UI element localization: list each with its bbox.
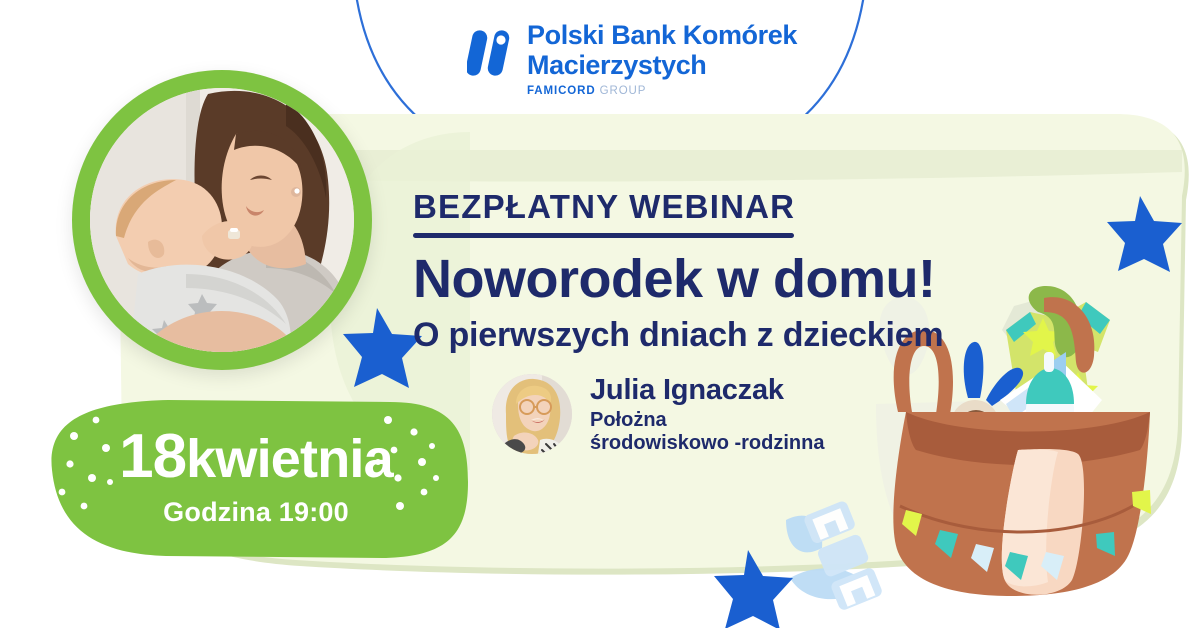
pbkm-quote-mark-icon — [467, 26, 515, 78]
logo-name-line2: Macierzystych — [527, 52, 797, 79]
webinar-banner: Polski Bank Komórek Macierzystych FAMICO… — [0, 0, 1200, 628]
date-month: kwietnia — [186, 429, 393, 489]
date-badge: 18kwietnia Godzina 19:00 — [46, 404, 466, 554]
mother-holding-newborn-photo — [90, 88, 354, 352]
avatar — [492, 374, 572, 454]
julia-ignaczak-portrait — [492, 374, 572, 454]
logo-famicord-text: FAMICORD — [527, 85, 596, 97]
date-time: Godzina 19:00 — [163, 497, 349, 528]
logo-name-line1: Polski Bank Komórek — [527, 22, 797, 49]
kicker-underline — [413, 233, 794, 238]
logo-group-tagline: FAMICORD GROUP — [527, 86, 797, 98]
page-subtitle: O pierwszych dniach z dzieckiem — [413, 316, 943, 355]
speaker-info: Julia Ignaczak Położna środowiskowo -rod… — [590, 374, 824, 454]
speaker-block: Julia Ignaczak Położna środowiskowo -rod… — [492, 374, 824, 454]
date-day: 18 — [119, 422, 186, 491]
speaker-name: Julia Ignaczak — [590, 374, 824, 406]
logo-group-text: GROUP — [600, 85, 647, 97]
speaker-role-line2: środowiskowo -rodzinna — [590, 432, 824, 454]
webinar-kicker: BEZPŁATNY WEBINAR — [413, 188, 795, 226]
hero-photo — [90, 88, 354, 352]
page-title: Noworodek w domu! — [413, 248, 935, 310]
speaker-role-line1: Położna — [590, 409, 824, 431]
date-main: 18kwietnia — [119, 426, 393, 488]
hero-photo-frame — [72, 70, 372, 370]
brand-logo[interactable]: Polski Bank Komórek Macierzystych FAMICO… — [467, 22, 797, 98]
